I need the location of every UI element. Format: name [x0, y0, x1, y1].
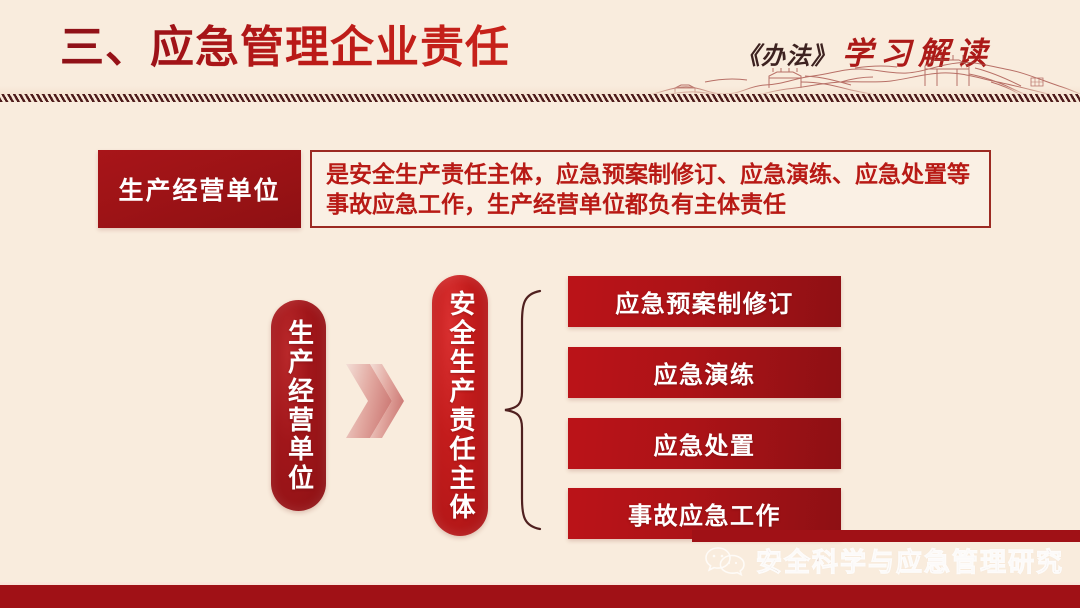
flow-target-pill: 安全生产责任主体: [432, 275, 488, 536]
callout-label: 生产经营单位: [98, 150, 301, 228]
bottom-bar: [0, 585, 1080, 608]
task-box: 应急演练: [568, 347, 841, 398]
slide-canvas: 三、应急管理企业责任 《办法》学习解读: [0, 0, 1080, 608]
callout-body-text: 是安全生产责任主体，应急预案制修订、应急演练、应急处置等事故应急工作，生产经营单…: [326, 159, 977, 220]
hatched-divider: [0, 94, 1080, 102]
header-subtitle: 《办法》学习解读: [736, 28, 994, 73]
curly-brace-icon: [500, 288, 542, 532]
wechat-icon: [704, 545, 746, 577]
callout-block: 生产经营单位 是安全生产责任主体，应急预案制修订、应急演练、应急处置等事故应急工…: [98, 150, 991, 228]
task-box: 应急预案制修订: [568, 276, 841, 327]
subtitle-brackets: 《办法》: [736, 44, 836, 70]
callout-body: 是安全生产责任主体，应急预案制修订、应急演练、应急处置等事故应急工作，生产经营单…: [310, 150, 991, 228]
double-chevron-right-icon: [344, 360, 406, 442]
flow-source-pill: 生产经营单位: [271, 300, 326, 511]
watermark-text: 安全科学与应急管理研究: [756, 542, 1064, 579]
task-box: 应急处置: [568, 418, 841, 469]
divider-shadow: [0, 86, 1080, 94]
footer-corner-block: [692, 530, 1080, 542]
page-title: 三、应急管理企业责任: [60, 22, 510, 74]
watermark: 安全科学与应急管理研究: [704, 542, 1064, 579]
subtitle-main: 学习解读: [842, 36, 994, 71]
